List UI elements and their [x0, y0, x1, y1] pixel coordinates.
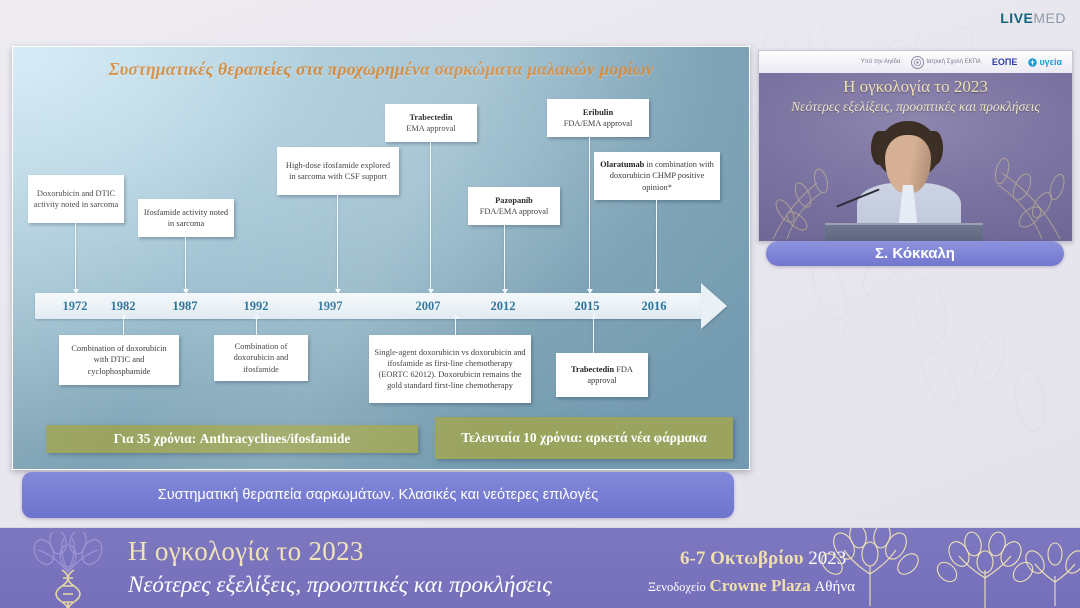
eribulin-box[interactable]: Eribulin FDA/EMA approval	[547, 99, 649, 137]
trabectedin-fda-box[interactable]: Trabectedin FDA approval	[556, 353, 648, 397]
connector-2007	[430, 142, 431, 289]
olaratumab-box-text: Olaratumab in combination with doxorubic…	[599, 159, 715, 192]
connector-1987	[185, 237, 186, 289]
pazopanib-box-text: Pazopanib FDA/EMA approval	[480, 195, 549, 217]
slide-title: Συστηματικές θεραπείες στα προχωρημένα σ…	[13, 59, 749, 80]
conference-banner-title: Η ογκολογία το 2023	[759, 77, 1072, 97]
footer-subtitle: Νεότερες εξελίξεις, προοπτικές και προκλ…	[128, 572, 552, 598]
medical-school-seal-icon	[911, 56, 924, 69]
trabectedin-ema-box-text: Trabectedin EMA approval	[406, 112, 456, 134]
eope-logo: ΕΟΠΕ	[992, 57, 1018, 67]
ygeia-label: υγεία	[1039, 57, 1062, 67]
trabectedin-ema-box-drug: Trabectedin	[409, 113, 452, 122]
doxorubicin-dtic-box-text: Doxorubicin and DTIC activity noted in s…	[33, 188, 119, 210]
timeline-arrow-head	[701, 283, 727, 329]
connector-2015	[589, 137, 590, 289]
connector-2015-lower	[593, 319, 594, 353]
livemed-logo-live: LIVE	[1000, 10, 1033, 26]
trabectedin-fda-box-drug: Trabectedin	[571, 365, 614, 374]
high-dose-ifosfamide-box[interactable]: High-dose ifosfamide explored in sarcoma…	[277, 147, 399, 195]
connector-1972	[75, 223, 76, 289]
year-1972: 1972	[63, 299, 88, 314]
year-2007: 2007	[416, 299, 441, 314]
banner-last-10-years[interactable]: Τελευταία 10 χρόνια: αρκετά νέα φάρμακα	[435, 417, 733, 459]
trabectedin-fda-box-text: Trabectedin FDA approval	[561, 364, 643, 386]
banner-35-years-text: Για 35 χρόνια: Anthracyclines/ifosfamide	[114, 431, 351, 447]
banner-35-years[interactable]: Για 35 χρόνια: Anthracyclines/ifosfamide	[46, 425, 418, 453]
banner-last-10-years-text: Τελευταία 10 χρόνια: αρκετά νέα φάρμακα	[461, 430, 706, 446]
livemed-logo: LIVEMED	[1000, 10, 1066, 26]
ifosfamide-activity-box[interactable]: Ifosfamide activity noted in sarcoma	[138, 199, 234, 237]
doxorubicin-dtic-box[interactable]: Doxorubicin and DTIC activity noted in s…	[28, 175, 124, 223]
conference-logo-bar: Υπό την Αιγίδα Ιατρική Σχολή ΕΚΠΑ ΕΟΠΕ υ…	[759, 51, 1072, 73]
connector-1997	[337, 195, 338, 289]
livemed-logo-med: MED	[1033, 10, 1066, 26]
medical-school-logo: Ιατρική Σχολή ΕΚΠΑ	[911, 56, 981, 69]
aegis-label: Υπό την Αιγίδα	[861, 59, 901, 65]
medical-school-label: Ιατρική Σχολή ΕΚΠΑ	[926, 59, 981, 65]
connector-2007-lower	[455, 319, 456, 335]
footer-venue-prefix: Ξενοδοχείο	[648, 580, 706, 594]
eribulin-box-detail: FDA/EMA approval	[564, 119, 633, 128]
eribulin-box-drug: Eribulin	[583, 108, 613, 117]
video-stage: Η ογκολογία το 2023 Νεότερες εξελίξεις, …	[759, 73, 1072, 241]
doxo-ifos-box[interactable]: Combination of doxorubicin and ifosfamid…	[214, 335, 308, 381]
connector-1992	[256, 319, 257, 335]
connector-2012	[504, 225, 505, 289]
presentation-slide[interactable]: Συστηματικές θεραπείες στα προχωρημένα σ…	[12, 46, 750, 470]
speaker-name-badge: Σ. Κόκκαλη	[766, 241, 1064, 266]
ygeia-logo: υγεία	[1028, 57, 1062, 67]
year-1997: 1997	[318, 299, 343, 314]
trabectedin-ema-box[interactable]: Trabectedin EMA approval	[385, 104, 477, 142]
year-2016: 2016	[642, 299, 667, 314]
doxo-dtic-cyclo-box-text: Combination of doxorubicin with DTIC and…	[64, 343, 174, 376]
talk-title-caption: Συστηματική θεραπεία σαρκωμάτων. Κλασικέ…	[22, 472, 734, 518]
eribulin-box-text: Eribulin FDA/EMA approval	[564, 107, 633, 129]
year-1987: 1987	[173, 299, 198, 314]
year-1992: 1992	[244, 299, 269, 314]
pazopanib-box-detail: FDA/EMA approval	[480, 207, 549, 216]
connector-2016	[656, 200, 657, 289]
talk-title-caption-text: Συστηματική θεραπεία σαρκωμάτων. Κλασικέ…	[158, 486, 598, 505]
footer-date-days: 6-7	[680, 548, 705, 569]
ygeia-circle-icon	[1028, 58, 1037, 67]
timeline-axis	[35, 293, 707, 319]
podium	[825, 223, 983, 241]
speaker-video-panel[interactable]: Υπό την Αιγίδα Ιατρική Σχολή ΕΚΠΑ ΕΟΠΕ υ…	[758, 50, 1073, 242]
conference-banner-subtitle: Νεότερες εξελίξεις, προοπτικές και προκλ…	[759, 99, 1072, 115]
connector-1982	[123, 319, 124, 335]
speaker-name-text: Σ. Κόκκαλη	[875, 245, 955, 262]
eortc-62012-box[interactable]: Single-agent doxorubicin vs doxorubicin …	[369, 335, 531, 403]
eortc-62012-box-text: Single-agent doxorubicin vs doxorubicin …	[374, 347, 526, 391]
doxo-ifos-box-text: Combination of doxorubicin and ifosfamid…	[219, 341, 303, 374]
olaratumab-box-drug: Olaratumab	[600, 160, 644, 169]
olaratumab-box[interactable]: Olaratumab in combination with doxorubic…	[594, 152, 720, 200]
pazopanib-box-drug: Pazopanib	[495, 196, 533, 205]
ifosfamide-activity-box-text: Ifosfamide activity noted in sarcoma	[143, 207, 229, 229]
pazopanib-box[interactable]: Pazopanib FDA/EMA approval	[468, 187, 560, 225]
high-dose-ifosfamide-box-text: High-dose ifosfamide explored in sarcoma…	[282, 160, 394, 182]
year-1982: 1982	[111, 299, 136, 314]
year-2015: 2015	[575, 299, 600, 314]
conference-footer: Η ογκολογία το 2023 Νεότερες εξελίξεις, …	[0, 527, 1080, 608]
footer-title: Η ογκολογία το 2023	[128, 536, 364, 567]
trabectedin-ema-box-detail: EMA approval	[406, 124, 456, 133]
dna-tree-logo-icon	[22, 532, 114, 608]
year-2012: 2012	[491, 299, 516, 314]
footer-trees-decoration	[780, 528, 1080, 608]
doxo-dtic-cyclo-box[interactable]: Combination of doxorubicin with DTIC and…	[59, 335, 179, 385]
